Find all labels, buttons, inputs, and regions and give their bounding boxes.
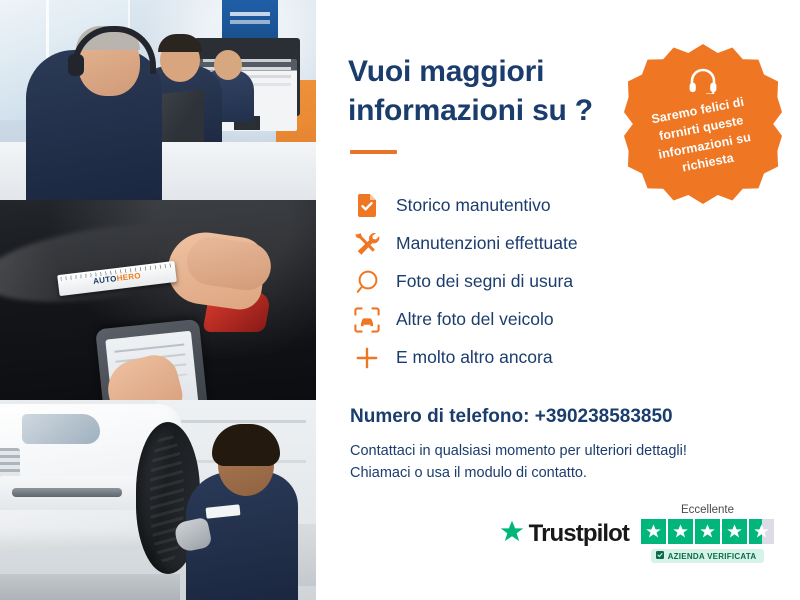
contact-description-line1: Contattaci in qualsiasi momento per ulte…	[350, 443, 687, 459]
call-center-agents-photo	[0, 0, 316, 200]
list-item: Manutenzioni effettuate	[352, 226, 766, 262]
star-filled	[668, 519, 693, 544]
feature-label: Altre foto del veicolo	[396, 311, 554, 329]
feature-list: Storico manutentivo Manutenzioni effettu…	[352, 188, 766, 376]
autohero-logo: AUTOHERO	[93, 271, 142, 286]
verified-badge-label: AZIENDA VERIFICATA	[668, 552, 757, 561]
magnifier-icon	[352, 267, 382, 297]
tools-icon	[352, 229, 382, 259]
list-item: E molto altro ancora	[352, 340, 766, 376]
trustpilot-logo: Trustpilot	[499, 519, 629, 550]
contact-info-banner: AUTOHERO Vuoi magg	[0, 0, 800, 600]
star-half	[749, 519, 774, 544]
car-frame-icon	[352, 305, 382, 335]
trustpilot-widget[interactable]: Trustpilot Eccellente AZIENDA VERIFICATA	[499, 504, 774, 564]
contact-description-line2: Chiamaci o usa il modulo di contatto.	[350, 465, 587, 481]
trustpilot-rating-label: Eccellente	[641, 504, 774, 516]
feature-label: Manutenzioni effettuate	[396, 235, 578, 253]
plus-icon	[352, 343, 382, 373]
page-title: Vuoi maggiori informazioni su ?	[348, 52, 618, 130]
checklist-icon	[352, 191, 382, 221]
verified-business-badge: AZIENDA VERIFICATA	[651, 549, 765, 563]
star-filled	[695, 519, 720, 544]
star-filled	[641, 519, 666, 544]
inspector-arm	[184, 234, 274, 293]
agent-hair	[158, 34, 202, 52]
car-bumper	[0, 476, 140, 510]
photo-strip: AUTOHERO	[0, 0, 316, 600]
technician-uniform-logo	[206, 504, 241, 518]
agent-foreground	[26, 50, 162, 200]
title-underline-rule	[350, 150, 397, 154]
callout-badge: Saremo felici di fornirti queste informa…	[624, 44, 782, 204]
autohero-logo-auto: AUTO	[93, 274, 118, 286]
trustpilot-star-icon	[499, 519, 525, 550]
vehicle-inspection-ruler-photo: AUTOHERO	[0, 200, 316, 400]
contact-block: Numero di telefono: +390238583850 Contat…	[350, 406, 766, 485]
workshop-tire-check-photo	[0, 400, 316, 600]
trustpilot-wordmark: Trustpilot	[529, 520, 629, 548]
vehicle-lift	[0, 574, 180, 600]
agent-head	[214, 50, 242, 80]
feature-label: Foto dei segni di usura	[396, 273, 573, 291]
content-panel: Vuoi maggiori informazioni su ? Saremo f…	[316, 0, 800, 600]
trustpilot-rating: Eccellente AZIENDA VERIFICATA	[641, 504, 774, 564]
contact-description: Contattaci in qualsiasi momento per ulte…	[350, 440, 750, 485]
car-headlight	[22, 414, 100, 444]
trustpilot-stars	[641, 519, 774, 544]
list-item: Altre foto del veicolo	[352, 302, 766, 338]
autohero-logo-hero: HERO	[116, 271, 141, 283]
phone-number-label[interactable]: Numero di telefono: +390238583850	[350, 406, 766, 428]
verified-check-icon	[656, 551, 664, 561]
feature-label: Storico manutentivo	[396, 197, 551, 215]
list-item: Foto dei segni di usura	[352, 264, 766, 300]
feature-label: E molto altro ancora	[396, 349, 553, 367]
headset-icon	[688, 68, 718, 94]
star-filled	[722, 519, 747, 544]
